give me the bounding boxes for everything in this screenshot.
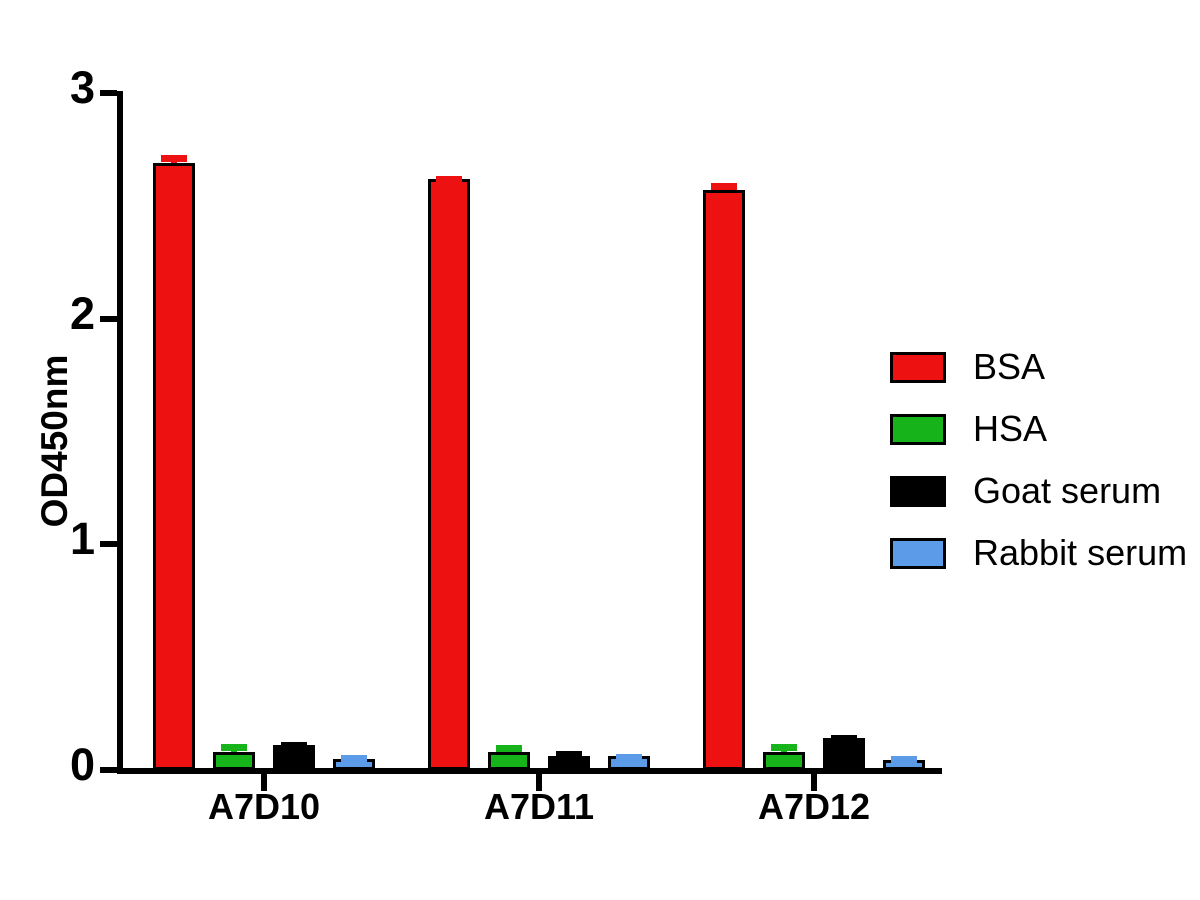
error-bar-cap xyxy=(221,744,247,751)
legend: BSAHSAGoat serumRabbit serum xyxy=(890,336,1187,584)
error-bar-cap xyxy=(556,751,582,758)
error-bar-cap xyxy=(616,754,642,761)
error-bar-cap xyxy=(436,176,462,183)
x-axis-label-a7d10: A7D10 xyxy=(134,786,394,828)
error-bar-cap xyxy=(771,744,797,751)
legend-label: HSA xyxy=(973,408,1047,450)
legend-label: Rabbit serum xyxy=(973,532,1187,574)
bar-bsa-a7d10 xyxy=(153,163,195,770)
bar-goat-serum-a7d12 xyxy=(823,738,865,770)
bar-bsa-a7d12 xyxy=(703,190,745,770)
error-bar-cap xyxy=(831,735,857,742)
error-bar-cap xyxy=(281,742,307,749)
error-bar-cap xyxy=(891,756,917,763)
bar-hsa-a7d10 xyxy=(213,752,255,770)
bar-hsa-a7d11 xyxy=(488,752,530,770)
error-bar-cap xyxy=(496,745,522,752)
legend-swatch-icon xyxy=(890,476,946,507)
bar-goat-serum-a7d11 xyxy=(548,756,590,770)
chart-figure: OD450nm 0123 A7D10A7D11A7D12 BSAHSAGoat … xyxy=(0,0,1200,900)
error-bar-cap xyxy=(341,755,367,762)
legend-label: Goat serum xyxy=(973,470,1161,512)
x-axis-label-a7d11: A7D11 xyxy=(409,786,669,828)
bar-goat-serum-a7d10 xyxy=(273,745,315,770)
error-bar-cap xyxy=(711,183,737,190)
legend-swatch-icon xyxy=(890,538,946,569)
legend-item-goat-serum[interactable]: Goat serum xyxy=(890,460,1187,522)
error-bar-cap xyxy=(161,155,187,162)
bar-bsa-a7d11 xyxy=(428,179,470,770)
legend-item-hsa[interactable]: HSA xyxy=(890,398,1187,460)
legend-label: BSA xyxy=(973,346,1045,388)
bar-hsa-a7d12 xyxy=(763,752,805,770)
legend-swatch-icon xyxy=(890,352,946,383)
legend-swatch-icon xyxy=(890,414,946,445)
legend-item-bsa[interactable]: BSA xyxy=(890,336,1187,398)
legend-item-rabbit-serum[interactable]: Rabbit serum xyxy=(890,522,1187,584)
x-axis-label-a7d12: A7D12 xyxy=(684,786,944,828)
